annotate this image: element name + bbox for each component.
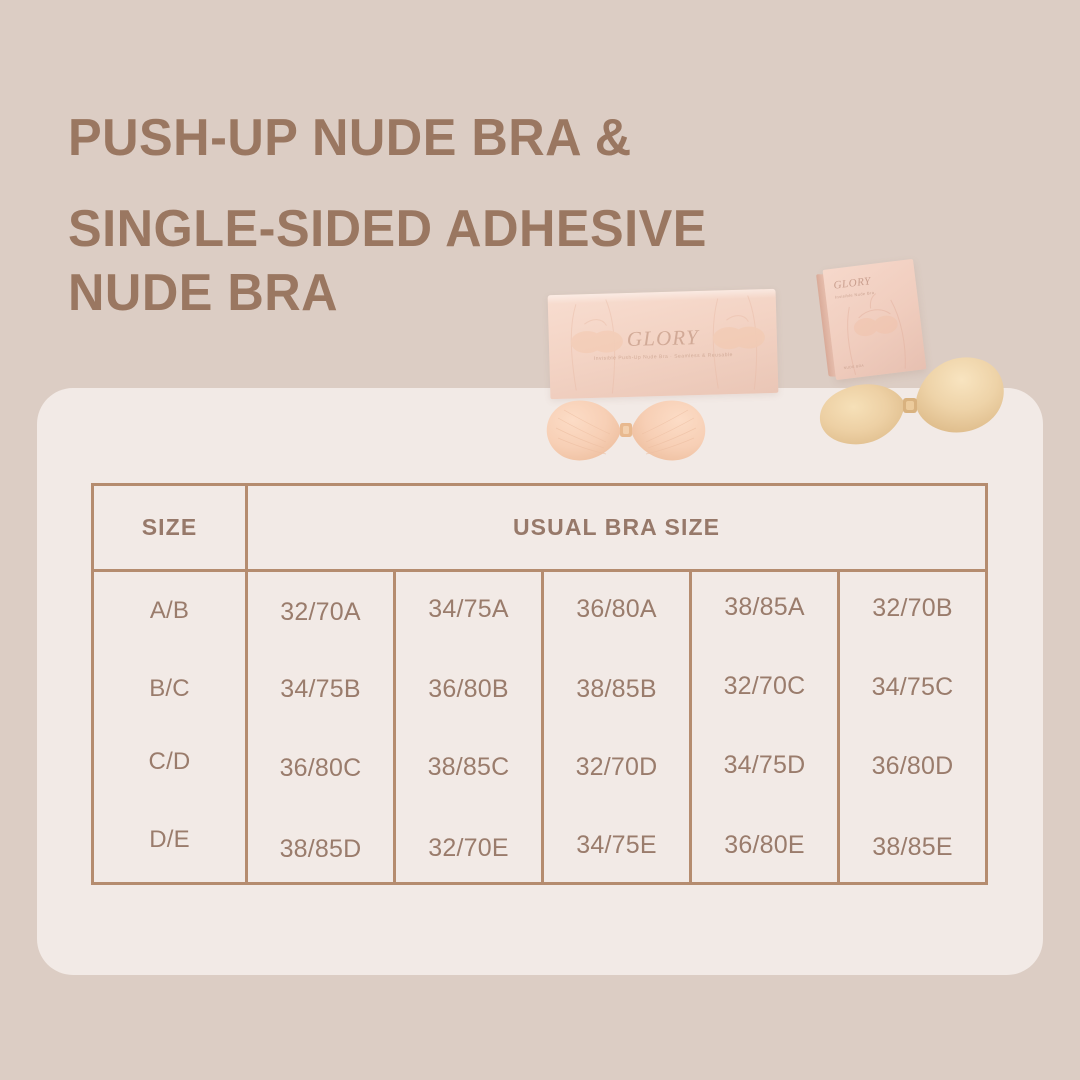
table-cell: 34/75C: [840, 648, 985, 726]
table-column-size: A/B B/C C/D D/E: [94, 572, 248, 885]
table-header-size-label: SIZE: [142, 514, 198, 541]
table-header-size: SIZE: [94, 486, 248, 569]
size-cell: A/B: [94, 572, 245, 650]
table-header-usual-label: USUAL BRA SIZE: [513, 514, 720, 541]
table-cell: 32/70A: [248, 573, 393, 651]
table-cell: 38/85C: [396, 729, 541, 807]
table-column-usual-4: 38/85A 32/70C 34/75D 36/80E: [692, 572, 840, 885]
table-cell: 36/80E: [692, 807, 837, 885]
table-cell: 38/85D: [248, 811, 393, 889]
table-cell: 34/75A: [396, 570, 541, 648]
table-cell: 34/75B: [248, 650, 393, 728]
size-chart-table: SIZE USUAL BRA SIZE A/B B/C C/D D/E 32/7…: [91, 483, 988, 885]
title-line-3: NUDE BRA: [68, 267, 883, 319]
table-cell: 32/70C: [692, 647, 837, 725]
title-line-2: SINGLE-SIDED ADHESIVE: [68, 203, 883, 255]
table-cell: 34/75E: [544, 807, 689, 885]
left-package-brand: GLORY: [549, 323, 778, 354]
table-cell: 36/80C: [248, 730, 393, 808]
table-cell: 32/70D: [544, 729, 689, 807]
table-cell: 36/80D: [840, 728, 985, 806]
table-cell: 36/80B: [396, 650, 541, 728]
table-column-usual-5: 32/70B 34/75C 36/80D 38/85E: [840, 572, 985, 885]
table-cell: 38/85B: [544, 650, 689, 728]
table-column-usual-1: 32/70A 34/75B 36/80C 38/85D: [248, 572, 396, 885]
table-header-usual: USUAL BRA SIZE: [248, 486, 985, 569]
table-cell: 38/85A: [692, 568, 837, 646]
table-column-usual-2: 34/75A 36/80B 38/85C 32/70E: [396, 572, 544, 885]
title-line-1: PUSH-UP NUDE BRA &: [68, 112, 883, 164]
table-cell: 36/80A: [544, 570, 689, 648]
page-title: PUSH-UP NUDE BRA & SINGLE-SIDED ADHESIVE…: [68, 112, 908, 319]
table-cell: 32/70B: [840, 569, 985, 647]
table-header-row: SIZE USUAL BRA SIZE: [94, 486, 985, 572]
table-cell: 32/70E: [396, 810, 541, 888]
table-body: A/B B/C C/D D/E 32/70A 34/75B 36/80C 38/…: [94, 572, 985, 885]
right-package-footnote: NUDE BRA: [843, 364, 864, 370]
table-column-usual-3: 36/80A 38/85B 32/70D 34/75E: [544, 572, 692, 885]
size-cell: D/E: [94, 801, 245, 879]
table-cell: 34/75D: [692, 727, 837, 805]
left-package-subtitle: Invisible Push-Up Nude Bra · Seamless & …: [549, 351, 777, 365]
table-cell: 38/85E: [840, 809, 985, 887]
size-cell: C/D: [94, 723, 245, 801]
size-cell: B/C: [94, 650, 245, 728]
